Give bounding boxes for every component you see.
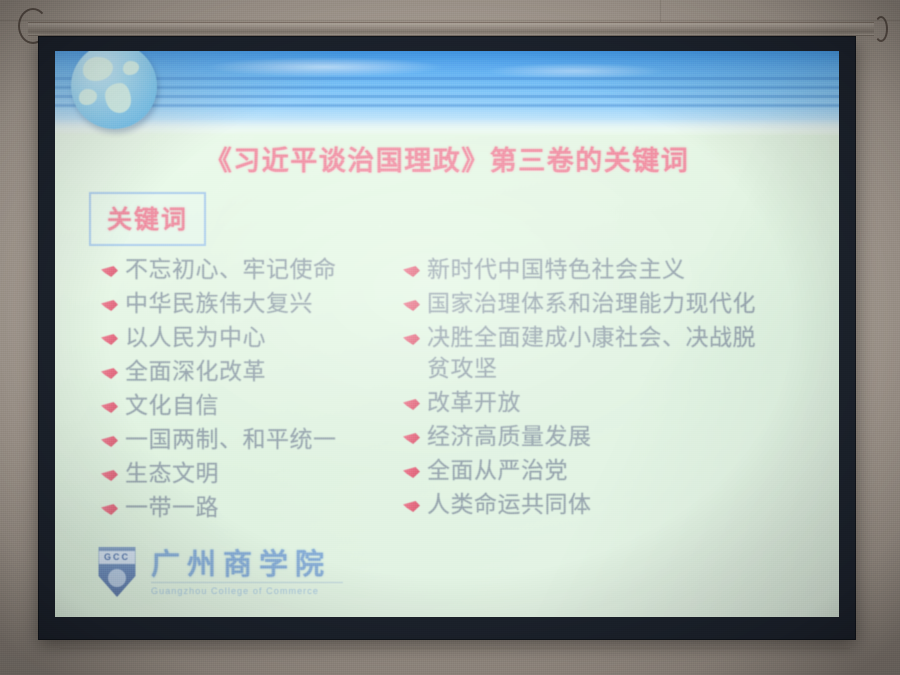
- keyword-column-left: 不忘初心、牢记使命 中华民族伟大复兴 以人民为中心 全面深化改革: [55, 255, 385, 527]
- list-item-label: 国家治理体系和治理能力现代化: [427, 289, 756, 320]
- keyword-box-label: 关键词: [107, 205, 188, 234]
- list-item: 不忘初心、牢记使命: [101, 255, 385, 286]
- arrow-bullet-icon: [403, 334, 420, 345]
- cloud-decoration: [205, 57, 445, 77]
- shield-letters: GCC: [95, 551, 139, 564]
- arrow-bullet-icon: [403, 399, 420, 410]
- slide-header-banner: [55, 51, 839, 135]
- arrow-bullet-icon: [101, 402, 118, 413]
- list-item-label: 生态文明: [125, 459, 219, 490]
- globe-landmass: [123, 61, 139, 75]
- university-logo: GCC 广州商学院 Guangzhou College of Commerce: [95, 547, 343, 597]
- arrow-bullet-icon: [101, 334, 118, 345]
- mount-bracket-right-icon: [874, 16, 888, 42]
- wall-seam-vertical: [660, 0, 661, 24]
- arrow-bullet-icon: [403, 300, 420, 311]
- globe-landmass: [105, 83, 131, 113]
- keyword-columns: 不忘初心、牢记使命 中华民族伟大复兴 以人民为中心 全面深化改革: [55, 255, 839, 527]
- list-item: 中华民族伟大复兴: [101, 289, 385, 320]
- list-item-label: 以人民为中心: [125, 323, 266, 354]
- arrow-bullet-icon: [403, 266, 420, 277]
- list-item: 生态文明: [101, 459, 385, 490]
- list-item-label: 中华民族伟大复兴: [125, 289, 313, 320]
- banner-stripes-decoration: [55, 77, 839, 113]
- arrow-bullet-icon: [101, 368, 118, 379]
- list-item: 国家治理体系和治理能力现代化: [403, 289, 831, 320]
- list-item: 经济高质量发展: [403, 422, 831, 453]
- wall-seam-bottom: [60, 648, 850, 649]
- slide-title: 《习近平谈治国理政》第三卷的关键词: [55, 139, 839, 178]
- globe-landmass: [83, 57, 113, 81]
- logo-text-block: 广州商学院 Guangzhou College of Commerce: [151, 548, 343, 597]
- arrow-bullet-icon: [101, 436, 118, 447]
- projection-screen: 《习近平谈治国理政》第三卷的关键词 关键词 不忘初心、牢记使命 中华: [38, 36, 856, 640]
- list-item: 人类命运共同体: [403, 490, 831, 521]
- screen-roller-bar: [28, 22, 874, 36]
- logo-divider: [151, 582, 343, 583]
- list-item: 一带一路: [101, 493, 385, 524]
- shield-icon: GCC: [95, 547, 139, 597]
- list-item: 文化自信: [101, 391, 385, 422]
- arrow-bullet-icon: [101, 300, 118, 311]
- arrow-bullet-icon: [403, 467, 420, 478]
- arrow-bullet-icon: [101, 504, 118, 515]
- keyword-column-right: 新时代中国特色社会主义 国家治理体系和治理能力现代化 决胜全面建成小康社会、决战…: [385, 255, 839, 527]
- screen-surface: 《习近平谈治国理政》第三卷的关键词 关键词 不忘初心、牢记使命 中华: [55, 51, 839, 617]
- arrow-bullet-icon: [101, 470, 118, 481]
- list-item-label: 全面从严治党: [427, 456, 568, 487]
- shield-emblem: [108, 569, 126, 587]
- list-item: 一国两制、和平统一: [101, 425, 385, 456]
- arrow-bullet-icon: [403, 433, 420, 444]
- arrow-bullet-icon: [101, 266, 118, 277]
- presentation-slide: 《习近平谈治国理政》第三卷的关键词 关键词 不忘初心、牢记使命 中华: [55, 51, 839, 617]
- list-item: 全面从严治党: [403, 456, 831, 487]
- list-item-label: 决胜全面建成小康社会、决战脱 贫攻坚: [427, 323, 756, 385]
- banner-fade: [55, 119, 839, 135]
- wall-seam-top: [0, 20, 900, 21]
- university-name-cn: 广州商学院: [151, 548, 343, 580]
- arrow-bullet-icon: [403, 501, 420, 512]
- list-item: 改革开放: [403, 388, 831, 419]
- globe-landmass: [79, 89, 97, 105]
- list-item-label: 一带一路: [125, 493, 219, 524]
- list-item-label: 经济高质量发展: [427, 422, 592, 453]
- list-item: 以人民为中心: [101, 323, 385, 354]
- room-photo: 《习近平谈治国理政》第三卷的关键词 关键词 不忘初心、牢记使命 中华: [0, 0, 900, 675]
- list-item: 新时代中国特色社会主义: [403, 255, 831, 286]
- list-item-label: 全面深化改革: [125, 357, 266, 388]
- list-item-label: 人类命运共同体: [427, 490, 592, 521]
- list-item: 全面深化改革: [101, 357, 385, 388]
- university-name-en: Guangzhou College of Commerce: [151, 585, 343, 597]
- list-item-label: 改革开放: [427, 388, 521, 419]
- list-item-label: 文化自信: [125, 391, 219, 422]
- keyword-box: 关键词: [89, 192, 206, 246]
- list-item-label: 一国两制、和平统一: [125, 425, 337, 456]
- list-item-label: 不忘初心、牢记使命: [125, 255, 337, 286]
- list-item: 决胜全面建成小康社会、决战脱 贫攻坚: [403, 323, 831, 385]
- list-item-label: 新时代中国特色社会主义: [427, 255, 686, 286]
